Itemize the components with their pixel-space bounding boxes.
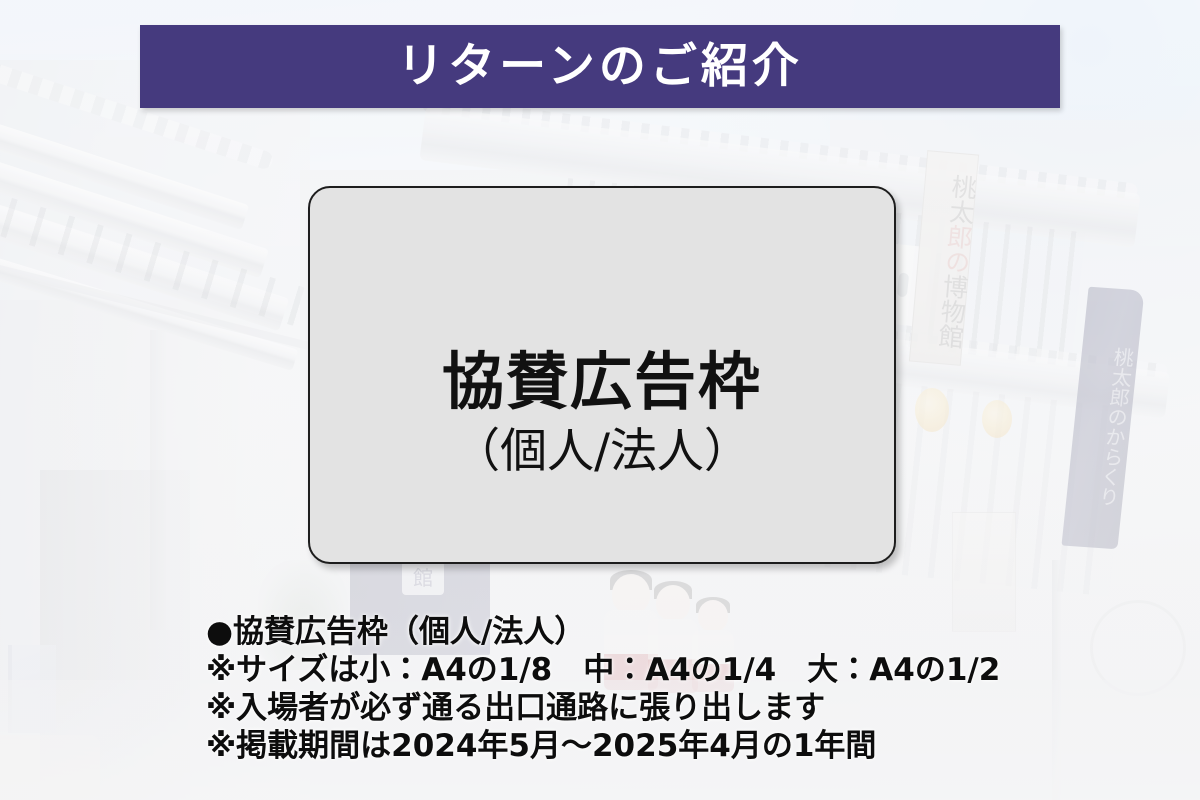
page-title: リターンのご紹介 (397, 43, 803, 90)
slide-root: 桃太郎の博物館 桃太郎のからくり 館 リタ (0, 0, 1200, 800)
note-line-4: ※掲載期間は2024年5月〜2025年4月の1年間 (206, 727, 1166, 765)
note-line-2: ※サイズは小：A4の1/8 中：A4の1/4 大：A4の1/2 (206, 651, 1166, 689)
notes-block: ●協賛広告枠（個人/法人） ※サイズは小：A4の1/8 中：A4の1/4 大：A… (206, 613, 1166, 765)
header-banner: リターンのご紹介 (140, 25, 1060, 108)
ad-slot-title: 協賛広告枠 (442, 348, 762, 416)
ad-slot-card: 協賛広告枠 （個人/法人） (308, 186, 896, 564)
ad-slot-subtitle: （個人/法人） (453, 424, 751, 480)
note-line-3: ※入場者が必ず通る出口通路に張り出します (206, 689, 1166, 727)
note-line-1: ●協賛広告枠（個人/法人） (206, 613, 1166, 651)
